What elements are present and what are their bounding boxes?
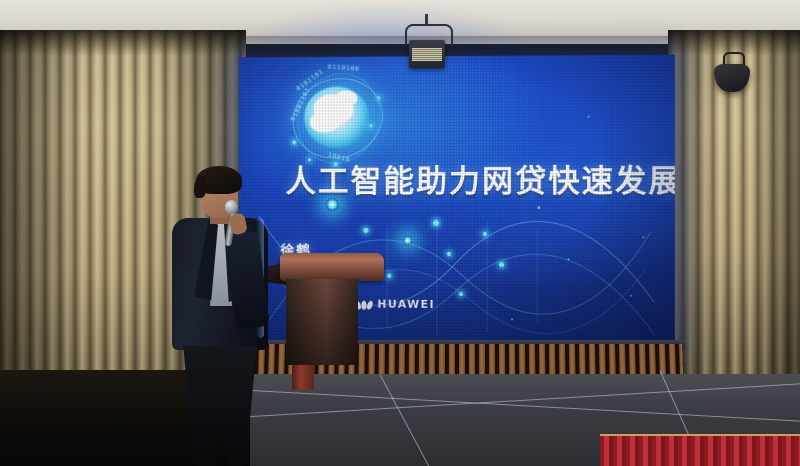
presentation-photo: 01001101 0101101 0110100 10010 [0, 0, 800, 466]
stage-light-fixture-icon [404, 24, 450, 76]
speaker-body [714, 64, 750, 92]
light-lens [412, 48, 442, 61]
presenter [168, 166, 278, 466]
podium-top-surface [280, 253, 384, 281]
presenter-legs [180, 346, 260, 466]
presenter-hand [228, 213, 248, 236]
ceiling-speaker-icon [714, 58, 750, 92]
stage-skirt-red [600, 434, 800, 466]
wooden-podium [262, 253, 384, 363]
presenter-hair-side [194, 176, 206, 198]
podium-shading [286, 279, 358, 365]
microphone-icon [225, 200, 238, 214]
floor-seam [380, 374, 489, 466]
